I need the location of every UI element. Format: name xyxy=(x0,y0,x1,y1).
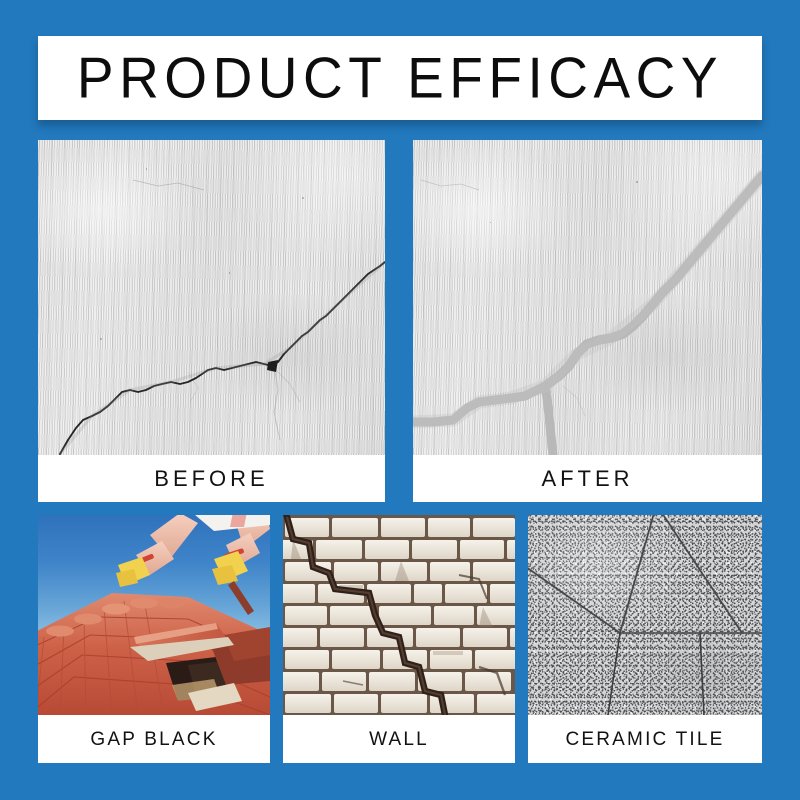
crack-line-icon xyxy=(38,140,385,455)
tile-joint-lines-icon xyxy=(528,515,762,715)
wall-caption: WALL xyxy=(283,715,515,763)
sealed-crack-icon xyxy=(413,140,762,455)
title-card: PRODUCT EFFICACY xyxy=(38,36,762,120)
application-card-roof: GAP BLACK xyxy=(38,515,270,763)
application-card-wall: WALL xyxy=(283,515,515,763)
tile-caption-text: CERAMIC TILE xyxy=(565,730,724,749)
tile-photo xyxy=(528,515,762,715)
poster-root: PRODUCT EFFICACY BEFO xyxy=(0,0,800,800)
before-caption-text: BEFORE xyxy=(154,468,268,490)
roof-caption: GAP BLACK xyxy=(38,715,270,763)
brick-photo xyxy=(283,515,515,715)
wall-caption-text: WALL xyxy=(369,730,429,749)
tile-caption: CERAMIC TILE xyxy=(528,715,762,763)
application-card-tile: CERAMIC TILE xyxy=(528,515,762,763)
roof-photo xyxy=(38,515,270,715)
brick-wall-icon xyxy=(283,515,515,715)
before-caption: BEFORE xyxy=(38,455,385,502)
page-title: PRODUCT EFFICACY xyxy=(77,49,723,106)
before-photo xyxy=(38,140,385,455)
after-photo xyxy=(413,140,762,455)
before-card: BEFORE xyxy=(38,140,385,502)
roof-scene xyxy=(38,515,270,715)
after-caption: AFTER xyxy=(413,455,762,502)
after-caption-text: AFTER xyxy=(541,468,633,490)
roof-caption-text: GAP BLACK xyxy=(90,730,217,749)
after-card: AFTER xyxy=(413,140,762,502)
roof-tiles-icon xyxy=(38,515,270,715)
